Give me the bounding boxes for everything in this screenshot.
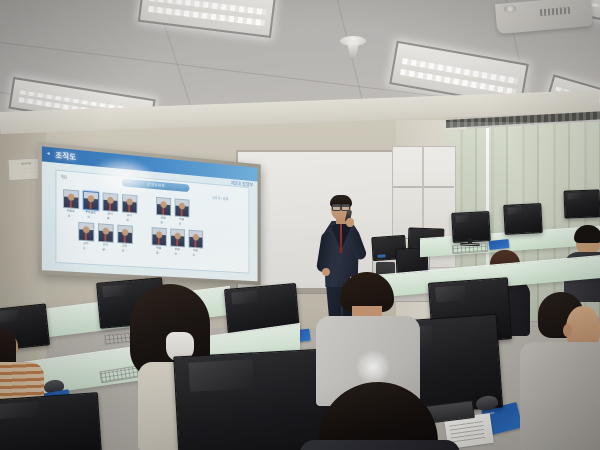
org-person: 위원 오 · ·	[188, 230, 203, 257]
person-name: 장 · ·	[116, 248, 132, 252]
portrait-photo-highlighted	[83, 191, 99, 211]
portrait-photo	[78, 222, 94, 242]
person-name: 임 · ·	[151, 251, 167, 255]
org-person: 간사 조 · ·	[77, 222, 94, 251]
sweatshirt-graphic	[356, 350, 390, 384]
projector-lens-icon	[504, 5, 516, 13]
portrait-photo	[188, 230, 203, 249]
student-hair	[574, 225, 600, 243]
person-name: 강 · ·	[174, 222, 190, 227]
presenter-hand-left	[322, 268, 330, 276]
org-person: 간사 윤 · ·	[97, 223, 114, 252]
person-name: 윤 · ·	[97, 247, 114, 252]
student-monitor	[564, 189, 600, 218]
portrait-photo	[174, 198, 189, 217]
org-person: 위원 강 · ·	[174, 198, 190, 226]
projection-screen: ◂ 조직도 제2대 집행부 개요 운영위원회 사무국 / 분과 위원장 김 · …	[42, 146, 258, 281]
portrait-photo	[98, 223, 114, 243]
student-monitor	[0, 392, 102, 450]
ceiling-light-panel	[138, 0, 276, 38]
org-person: 위원장 김 · ·	[62, 189, 79, 218]
student-ear	[563, 324, 572, 337]
person-name: 박 · ·	[102, 216, 119, 221]
org-person: 위원 한 · ·	[169, 228, 185, 256]
slide-title: 조직도	[55, 149, 76, 162]
presenter-hand-right	[346, 218, 354, 227]
portrait-photo	[170, 228, 185, 247]
person-name: 조 · ·	[77, 246, 94, 251]
person-name: 이 · ·	[82, 215, 99, 220]
person-name: 최 · ·	[121, 218, 137, 223]
portrait-photo	[156, 197, 171, 216]
classroom-photo: выход · · · · · · · · · · · · · · · · ◂ …	[0, 0, 600, 450]
student-monitor	[503, 203, 543, 235]
org-person: 위원 정 · ·	[155, 197, 171, 225]
sprinkler-stem-icon	[347, 42, 359, 58]
org-person: 위원 임 · ·	[151, 227, 167, 255]
person-name: 오 · ·	[188, 253, 203, 257]
org-person: 감사 박 · ·	[102, 192, 119, 221]
portrait-photo	[151, 227, 166, 246]
person-name: 한 · ·	[169, 252, 185, 256]
slide-corner-label: 개요	[60, 174, 67, 181]
person-name: 김 · ·	[62, 213, 79, 218]
org-person: 감사 최 · ·	[121, 194, 137, 222]
student-torso	[300, 440, 460, 450]
projection-screen-frame: ◂ 조직도 제2대 집행부 개요 운영위원회 사무국 / 분과 위원장 김 · …	[38, 142, 261, 285]
glasses-icon	[332, 204, 350, 209]
org-row-spacer	[136, 226, 149, 227]
org-person: 간사 장 · ·	[116, 225, 132, 253]
slide-footer-note: · · · · ·	[237, 267, 244, 271]
person-name: 정 · ·	[155, 220, 171, 225]
org-person: 부위원장 이 · ·	[82, 191, 99, 220]
slide-back-arrow-icon[interactable]: ◂	[47, 150, 50, 157]
portrait-photo	[63, 189, 79, 209]
student-torso	[520, 342, 600, 450]
portrait-photo	[117, 225, 132, 244]
